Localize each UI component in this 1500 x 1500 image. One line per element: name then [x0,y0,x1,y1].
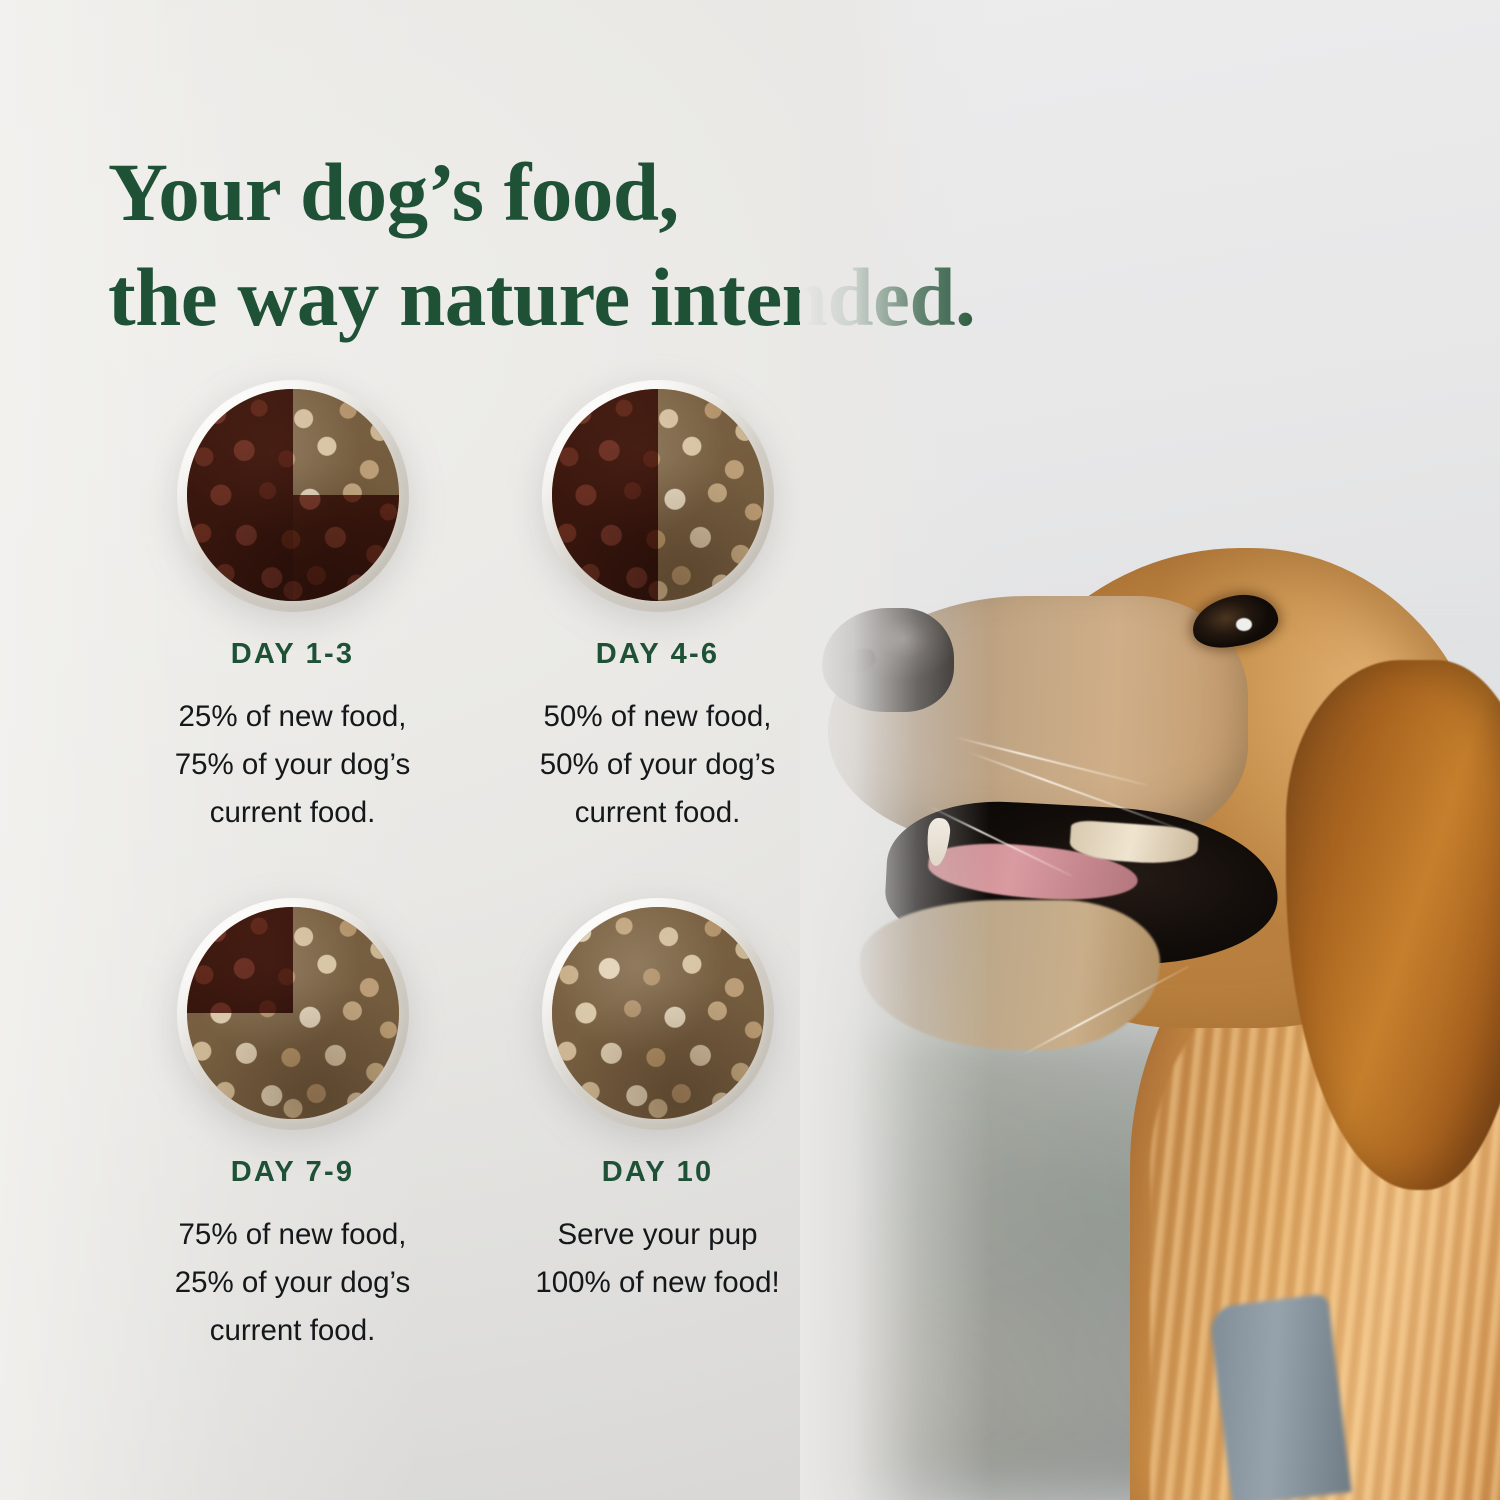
current-food-overlay [552,389,658,601]
food-bowl-day-10 [542,898,774,1130]
step-description: 50% of new food, 50% of your dog’s curre… [540,693,776,836]
page-title: Your dog’s food, the way nature intended… [108,140,1148,349]
step-day-10: DAY 10 Serve your pup 100% of new food! [475,898,840,1354]
step-label: DAY 4-6 [596,638,719,671]
bowl-contents [187,907,399,1119]
current-food-overlay [187,389,293,601]
feeding-transition-steps: DAY 1-3 25% of new food, 75% of your dog… [110,380,840,1355]
bowl-contents [187,389,399,601]
step-day-7-9: DAY 7-9 75% of new food, 25% of your dog… [110,898,475,1354]
row-spacer [110,836,840,898]
step-label: DAY 7-9 [231,1156,354,1189]
step-row-bottom: DAY 7-9 75% of new food, 25% of your dog… [110,898,840,1354]
dog-chin [860,900,1160,1050]
step-row-top: DAY 1-3 25% of new food, 75% of your dog… [110,380,840,836]
bowl-contents [552,907,764,1119]
step-day-4-6: DAY 4-6 50% of new food, 50% of your dog… [475,380,840,836]
step-label: DAY 10 [602,1156,714,1189]
bowl-shading [552,907,764,1119]
step-description: 25% of new food, 75% of your dog’s curre… [175,693,411,836]
current-food-overlay [187,907,293,1013]
dog-eye-glint [1236,618,1252,631]
step-label: DAY 1-3 [231,638,354,671]
current-food-overlay [293,495,399,601]
promo-graphic: Your dog’s food, the way nature intended… [0,0,1500,1500]
step-day-1-3: DAY 1-3 25% of new food, 75% of your dog… [110,380,475,836]
bowl-contents [552,389,764,601]
food-bowl-day-1-3 [177,380,409,612]
dog-collar [1208,1293,1351,1500]
food-bowl-day-7-9 [177,898,409,1130]
step-description: 75% of new food, 25% of your dog’s curre… [175,1211,411,1354]
step-description: Serve your pup 100% of new food! [535,1211,779,1307]
food-bowl-day-4-6 [542,380,774,612]
